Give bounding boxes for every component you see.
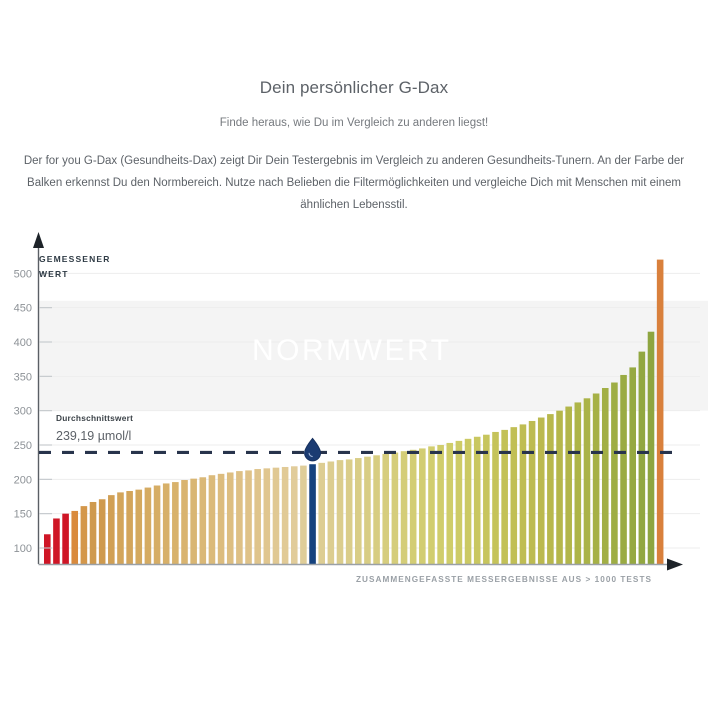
bar-highlighted[interactable]	[309, 464, 316, 564]
bar[interactable]	[629, 367, 636, 564]
bar[interactable]	[602, 388, 609, 564]
bar[interactable]	[593, 394, 600, 565]
y-axis-caption-line1: GEMESSENER	[39, 254, 111, 264]
bar[interactable]	[53, 518, 60, 564]
y-axis-tick-label: 500	[14, 268, 32, 280]
y-axis-tick-label: 450	[14, 303, 32, 315]
bar[interactable]	[282, 467, 289, 565]
bar[interactable]	[529, 421, 536, 565]
bar[interactable]	[410, 450, 417, 565]
bar[interactable]	[254, 469, 261, 564]
bar[interactable]	[90, 502, 97, 565]
bar[interactable]	[200, 477, 207, 564]
y-axis-arrow-icon	[33, 232, 44, 248]
bar[interactable]	[483, 435, 490, 565]
bar[interactable]	[456, 441, 463, 565]
bar[interactable]	[428, 446, 435, 564]
bar[interactable]	[373, 455, 380, 564]
bar[interactable]	[437, 445, 444, 565]
water-drop-icon[interactable]	[305, 438, 321, 461]
bar[interactable]	[639, 352, 646, 565]
bar[interactable]	[245, 470, 252, 564]
bar[interactable]	[218, 474, 225, 565]
bar[interactable]	[520, 424, 527, 564]
bar[interactable]	[236, 471, 243, 564]
bar[interactable]	[419, 448, 426, 564]
bar[interactable]	[556, 411, 563, 565]
bar[interactable]	[209, 475, 216, 564]
bar[interactable]	[337, 460, 344, 564]
bar[interactable]	[62, 514, 69, 565]
bar[interactable]	[446, 443, 453, 565]
bar[interactable]	[575, 402, 582, 564]
bar[interactable]	[364, 457, 371, 565]
bar[interactable]	[565, 407, 572, 565]
bar[interactable]	[611, 383, 618, 565]
y-axis-tick-label: 250	[14, 440, 32, 452]
bar[interactable]	[492, 432, 499, 565]
bar[interactable]	[172, 482, 179, 564]
bar[interactable]	[181, 480, 188, 564]
bar[interactable]	[620, 375, 627, 565]
bar[interactable]	[511, 427, 518, 564]
average-label: Durchschnittswert	[56, 413, 133, 423]
bar[interactable]	[401, 451, 408, 564]
bar[interactable]	[657, 260, 664, 565]
bar[interactable]	[264, 468, 271, 564]
bar[interactable]	[81, 506, 88, 564]
bar[interactable]	[163, 483, 170, 564]
bar[interactable]	[346, 459, 353, 564]
bar[interactable]	[108, 495, 115, 564]
bar[interactable]	[392, 453, 399, 565]
bar[interactable]	[474, 437, 481, 565]
bar[interactable]	[538, 418, 545, 565]
bar[interactable]	[300, 466, 307, 565]
bar[interactable]	[71, 511, 78, 565]
normwert-label: NORMWERT	[252, 334, 451, 367]
bar[interactable]	[291, 466, 298, 564]
bar[interactable]	[355, 458, 362, 564]
bar[interactable]	[318, 463, 325, 565]
y-axis-tick-label: 300	[14, 406, 32, 418]
y-axis-caption-line2: WERT	[39, 269, 69, 279]
bar[interactable]	[135, 490, 142, 565]
bar[interactable]	[328, 461, 335, 564]
x-axis-arrow-icon	[667, 559, 683, 571]
y-axis-tick-label: 350	[14, 371, 32, 383]
bar[interactable]	[126, 491, 133, 564]
bar[interactable]	[145, 488, 152, 565]
bar[interactable]	[44, 534, 51, 564]
gdax-chart: NORMWERT 100150200250300350400450500 GEM…	[0, 0, 708, 708]
bar[interactable]	[273, 468, 280, 565]
y-axis-tick-label: 400	[14, 337, 32, 349]
bar[interactable]	[190, 479, 197, 565]
y-axis-tick-label: 200	[14, 474, 32, 486]
bar[interactable]	[117, 492, 124, 564]
chart-svg: NORMWERT 100150200250300350400450500 GEM…	[0, 0, 708, 708]
bar[interactable]	[154, 486, 161, 565]
x-axis-caption: ZUSAMMENGEFASSTE MESSERGEBNISSE AUS > 10…	[356, 575, 652, 584]
bar[interactable]	[99, 499, 106, 564]
bar[interactable]	[501, 430, 508, 565]
y-axis-tick-label: 100	[14, 543, 32, 555]
bar[interactable]	[382, 454, 389, 565]
y-axis-tick-label: 150	[14, 509, 32, 521]
bar[interactable]	[465, 439, 472, 565]
bar[interactable]	[648, 332, 655, 565]
bar[interactable]	[547, 414, 554, 564]
bar[interactable]	[584, 398, 591, 564]
average-value: 239,19 µmol/l	[56, 429, 131, 443]
bar[interactable]	[227, 472, 234, 564]
gdax-page: Dein persönlicher G-Dax Finde heraus, wi…	[0, 0, 708, 708]
